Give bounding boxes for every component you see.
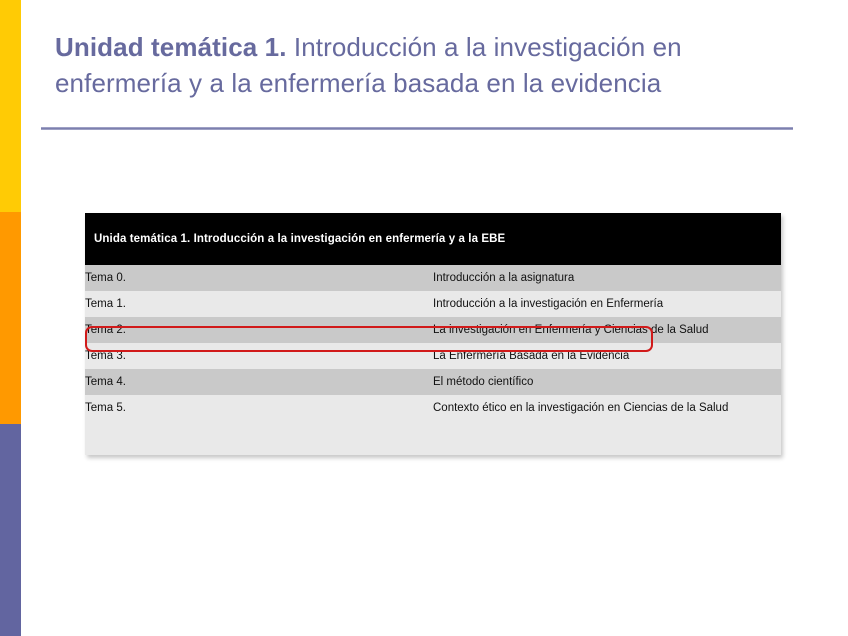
table-header-cell: Unida temática 1. Introducción a la inve… — [85, 213, 781, 265]
sidebar-band-orange — [0, 212, 21, 424]
topic-text: Introducción a la asignatura — [433, 265, 781, 291]
topic-text: El método científico — [433, 369, 781, 395]
topic-label: Tema 2. — [85, 317, 433, 343]
topic-text: Contexto ético en la investigación en Ci… — [433, 395, 781, 421]
table-row[interactable]: Tema 3.La Enfermería Basada en la Eviden… — [85, 343, 781, 369]
topic-label: Tema 5. — [85, 395, 433, 421]
table-row[interactable]: Tema 1.Introducción a la investigación e… — [85, 291, 781, 317]
slide-title-unit: Unidad temática 1. — [55, 32, 287, 62]
table-row[interactable]: Tema 2.La investigación en Enfermería y … — [85, 317, 781, 343]
sidebar-band-yellow — [0, 0, 21, 212]
topic-label: Tema 4. — [85, 369, 433, 395]
topic-label: Tema 1. — [85, 291, 433, 317]
table-footer-spacer-cell — [85, 421, 781, 455]
table-row[interactable]: Tema 4.El método científico — [85, 369, 781, 395]
decorative-sidebar — [0, 0, 21, 636]
table-footer-spacer — [85, 421, 781, 455]
topic-label: Tema 0. — [85, 265, 433, 291]
title-divider — [41, 127, 793, 130]
topic-table: Unida temática 1. Introducción a la inve… — [85, 213, 781, 455]
topic-text: La Enfermería Basada en la Evidencia — [433, 343, 781, 369]
table-header-row: Unida temática 1. Introducción a la inve… — [85, 213, 781, 265]
topic-text: Introducción a la investigación en Enfer… — [433, 291, 781, 317]
table-row[interactable]: Tema 0.Introducción a la asignatura — [85, 265, 781, 291]
topic-text: La investigación en Enfermería y Ciencia… — [433, 317, 781, 343]
slide-title: Unidad temática 1. Introducción a la inv… — [55, 30, 800, 102]
topic-label: Tema 3. — [85, 343, 433, 369]
sidebar-band-purple — [0, 424, 21, 636]
table-row[interactable]: Tema 5.Contexto ético en la investigació… — [85, 395, 781, 421]
